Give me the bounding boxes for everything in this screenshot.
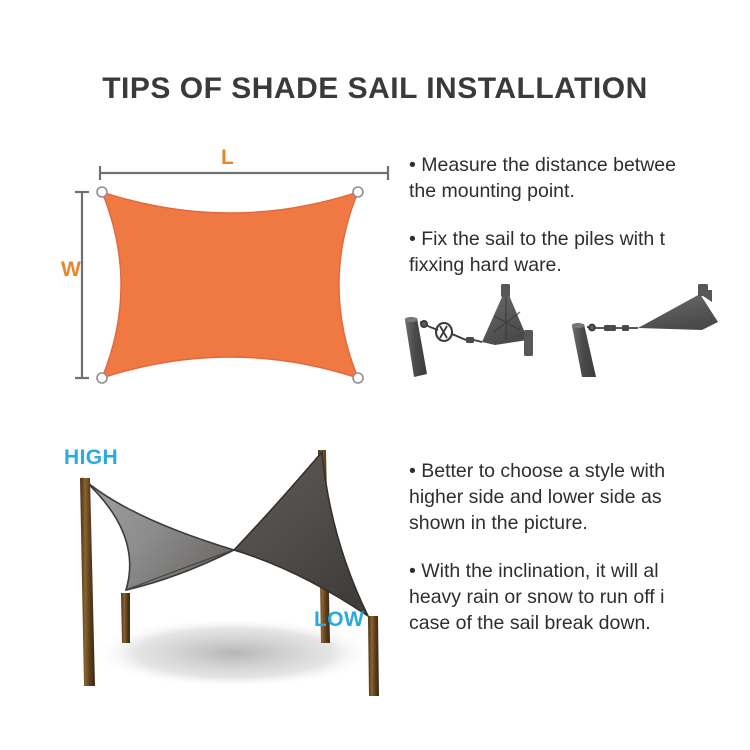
low-corner-label: LOW xyxy=(314,608,364,632)
tip-choose-high-low-style: • Better to choose a style with higher s… xyxy=(409,458,750,536)
high-corner-label: HIGH xyxy=(64,446,118,470)
infographic-page: TIPS OF SHADE SAIL INSTALLATION xyxy=(0,0,750,750)
turnbuckle-hardware-left xyxy=(420,321,482,343)
hardware-assembly-right xyxy=(572,284,718,377)
shade-sail-light xyxy=(82,478,234,590)
sail-corner-plate-left xyxy=(482,284,533,356)
sail-corner-right xyxy=(638,284,718,330)
hardware-fitting-illustrations xyxy=(400,282,750,377)
rectangular-sail-diagram: L W xyxy=(58,138,403,400)
page-title: TIPS OF SHADE SAIL INSTALLATION xyxy=(0,72,750,106)
width-dimension-line xyxy=(75,192,89,378)
sail-body xyxy=(102,192,358,378)
length-label: L xyxy=(221,146,234,170)
tip-inclination-runoff: • With the inclination, it will al heavy… xyxy=(409,558,750,636)
chain-turnbuckle-right xyxy=(587,325,638,332)
shade-sail-dark xyxy=(234,452,368,616)
tip-fix-sail-to-piles: • Fix the sail to the piles with t fixxi… xyxy=(409,226,750,278)
inclined-canopy-diagram: HIGH LOW xyxy=(38,438,428,708)
hardware-assembly-left xyxy=(405,284,533,377)
tips-list-bottom: • Better to choose a style with higher s… xyxy=(409,458,750,636)
length-dimension-line xyxy=(100,166,388,180)
width-label: W xyxy=(61,258,81,282)
tip-measure-distance: • Measure the distance betwee the mounti… xyxy=(409,152,750,204)
tips-list-top: • Measure the distance betwee the mounti… xyxy=(409,152,750,278)
